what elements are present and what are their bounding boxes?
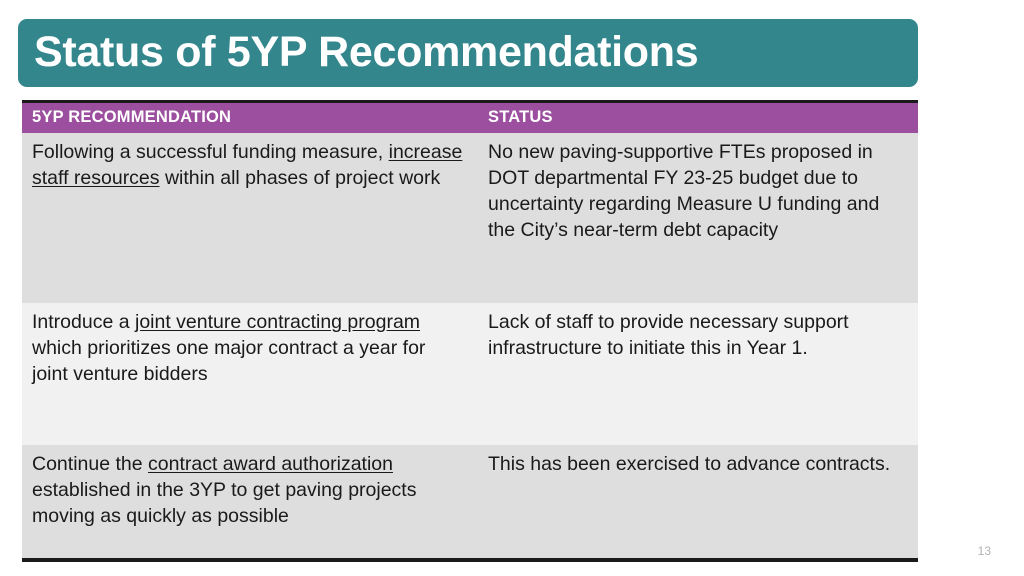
table-row: Introduce a joint venture contracting pr… bbox=[22, 303, 918, 445]
table-body: Following a successful funding measure, … bbox=[22, 133, 918, 560]
column-header-status: STATUS bbox=[478, 102, 918, 134]
status-text: No new paving-supportive FTEs proposed i… bbox=[488, 140, 904, 244]
recommendation-text-before: Introduce a bbox=[32, 311, 135, 333]
recommendation-text-underlined: contract award authorization bbox=[148, 453, 393, 475]
column-header-recommendation: 5YP RECOMMENDATION bbox=[22, 102, 478, 134]
recommendation-text-after: which prioritizes one major contract a y… bbox=[32, 337, 425, 385]
page-number: 13 bbox=[978, 544, 991, 558]
slide-title-banner: Status of 5YP Recommendations bbox=[18, 19, 918, 87]
cell-status: Lack of staff to provide necessary suppo… bbox=[478, 303, 918, 445]
recommendation-text: Introduce a joint venture contracting pr… bbox=[32, 310, 464, 388]
cell-recommendation: Following a successful funding measure, … bbox=[22, 133, 478, 303]
cell-recommendation: Continue the contract award authorizatio… bbox=[22, 445, 478, 560]
status-text: This has been exercised to advance contr… bbox=[488, 452, 904, 478]
recommendation-text-before: Following a successful funding measure, bbox=[32, 141, 389, 163]
cell-status: No new paving-supportive FTEs proposed i… bbox=[478, 133, 918, 303]
recommendation-text-after: within all phases of project work bbox=[160, 167, 441, 189]
table-header-row: 5YP RECOMMENDATION STATUS bbox=[22, 102, 918, 134]
recommendation-text: Following a successful funding measure, … bbox=[32, 140, 464, 192]
recommendations-table: 5YP RECOMMENDATION STATUS Following a su… bbox=[22, 100, 918, 562]
cell-status: This has been exercised to advance contr… bbox=[478, 445, 918, 560]
recommendation-text-before: Continue the bbox=[32, 453, 148, 475]
cell-recommendation: Introduce a joint venture contracting pr… bbox=[22, 303, 478, 445]
table-header: 5YP RECOMMENDATION STATUS bbox=[22, 102, 918, 134]
table-row: Following a successful funding measure, … bbox=[22, 133, 918, 303]
page-title: Status of 5YP Recommendations bbox=[34, 30, 698, 75]
recommendation-text-after: established in the 3YP to get paving pro… bbox=[32, 479, 416, 527]
status-text: Lack of staff to provide necessary suppo… bbox=[488, 310, 904, 362]
recommendation-text: Continue the contract award authorizatio… bbox=[32, 452, 464, 530]
table-row: Continue the contract award authorizatio… bbox=[22, 445, 918, 560]
recommendation-text-underlined: joint venture contracting program bbox=[135, 311, 420, 333]
